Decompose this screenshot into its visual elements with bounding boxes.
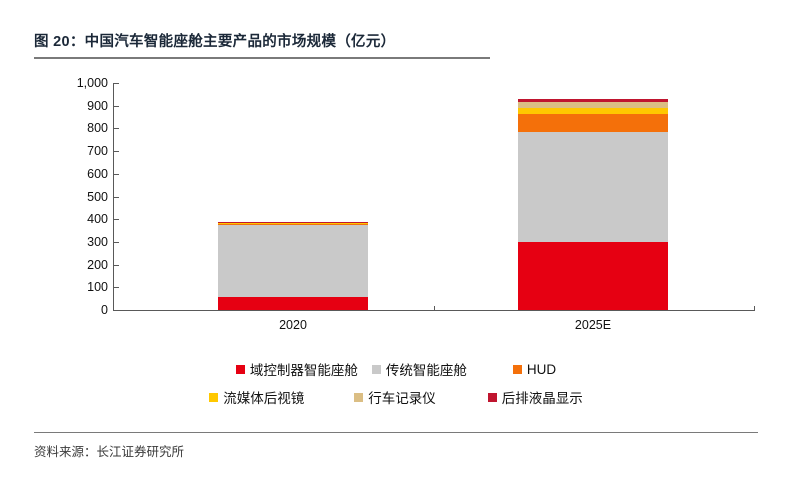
legend-row: 流媒体后视镜行车记录仪后排液晶显示: [0, 383, 792, 411]
legend-item-label: 流媒体后视镜: [223, 387, 304, 407]
bar-segment[interactable]: [518, 242, 668, 310]
legend-item-label: 行车记录仪: [368, 387, 436, 407]
legend-swatch-icon: [513, 365, 522, 374]
legend-item[interactable]: 流媒体后视镜: [209, 387, 304, 407]
x-axis-category-label: 2020: [279, 318, 307, 332]
legend-item-label: 传统智能座舱: [386, 359, 467, 379]
y-axis-tick-mark: [114, 197, 119, 198]
legend-item-label: 后排液晶显示: [502, 387, 583, 407]
y-axis-tick-mark: [114, 310, 119, 311]
bar-stack[interactable]: [518, 83, 668, 310]
y-axis-tick-mark: [114, 287, 119, 288]
legend-item[interactable]: 域控制器智能座舱: [236, 359, 358, 379]
legend-item-label: HUD: [527, 362, 556, 377]
y-axis-tick-mark: [114, 128, 119, 129]
bar-segment[interactable]: [218, 297, 368, 310]
figure-source-block: 资料来源：长江证券研究所: [34, 432, 758, 460]
y-axis-tick-mark: [114, 219, 119, 220]
y-axis-tick-mark: [114, 83, 119, 84]
legend-item[interactable]: 传统智能座舱: [372, 359, 467, 379]
figure-container: 图 20：中国汽车智能座舱主要产品的市场规模（亿元） 0100200300400…: [0, 0, 792, 500]
y-axis-tick-mark: [114, 151, 119, 152]
chart-legend: 域控制器智能座舱传统智能座舱HUD流媒体后视镜行车记录仪后排液晶显示: [0, 355, 792, 411]
legend-item[interactable]: 后排液晶显示: [488, 387, 583, 407]
y-axis-tick-mark: [114, 174, 119, 175]
x-axis-category-label: 2025E: [575, 318, 611, 332]
bar-segment[interactable]: [518, 132, 668, 242]
bar-segment[interactable]: [218, 222, 368, 223]
legend-swatch-icon: [372, 365, 381, 374]
legend-row: 域控制器智能座舱传统智能座舱HUD: [0, 355, 792, 383]
bar-segment[interactable]: [518, 102, 668, 108]
bar-segment[interactable]: [518, 108, 668, 114]
bars-layer: [0, 70, 792, 320]
legend-item[interactable]: HUD: [513, 362, 556, 377]
bar-segment[interactable]: [218, 224, 368, 225]
bar-segment[interactable]: [218, 225, 368, 297]
y-axis-tick-mark: [114, 242, 119, 243]
chart-plot-area: 01002003004005006007008009001,000 202020…: [0, 70, 792, 330]
source-note: 资料来源：长江证券研究所: [34, 441, 758, 460]
legend-swatch-icon: [236, 365, 245, 374]
figure-title-block: 图 20：中国汽车智能座舱主要产品的市场规模（亿元）: [34, 30, 490, 59]
bar-stack[interactable]: [218, 83, 368, 310]
legend-item-label: 域控制器智能座舱: [250, 359, 358, 379]
legend-item[interactable]: 行车记录仪: [354, 387, 436, 407]
legend-swatch-icon: [209, 393, 218, 402]
bar-segment[interactable]: [518, 99, 668, 102]
x-axis-category-labels: 20202025E: [0, 316, 792, 340]
page-title: 图 20：中国汽车智能座舱主要产品的市场规模（亿元）: [34, 30, 490, 51]
legend-swatch-icon: [354, 393, 363, 402]
y-axis-tick-mark: [114, 265, 119, 266]
bar-segment[interactable]: [518, 114, 668, 132]
legend-swatch-icon: [488, 393, 497, 402]
y-axis-tick-mark: [114, 106, 119, 107]
